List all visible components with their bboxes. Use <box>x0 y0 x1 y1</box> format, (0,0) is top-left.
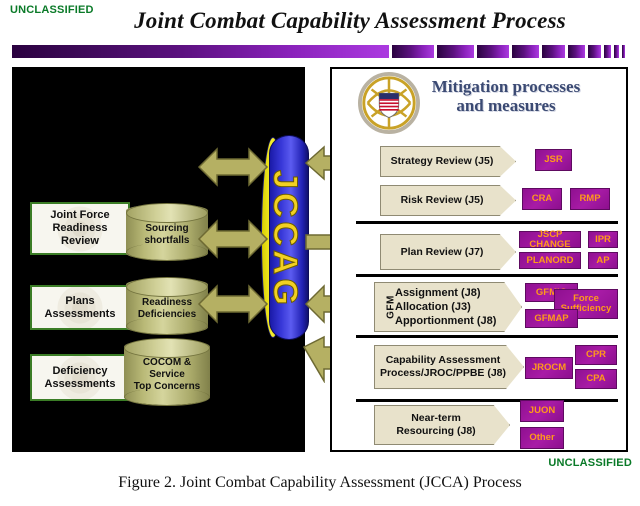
measure-tag-label: CPR <box>586 350 606 360</box>
measure-tag-label: Other <box>529 433 554 443</box>
measure-tag-other[interactable]: Other <box>520 427 564 449</box>
process-global-force-management[interactable]: GFM Assignment (J8) Allocation (J3) Appo… <box>374 282 522 332</box>
arrow-products-to-hub-3 <box>197 280 269 328</box>
data-store-readiness-deficiencies[interactable]: ReadinessDeficiencies <box>126 278 208 334</box>
product-box-label: PlansAssessments <box>45 295 116 321</box>
right-panel-title: Mitigation processesand measures <box>390 77 622 115</box>
purple-bar-segment <box>622 45 625 58</box>
process-risk-review[interactable]: Risk Review (J5) <box>380 185 516 216</box>
arrow-products-to-hub-1 <box>197 143 269 191</box>
measure-tag-label: PLANORD <box>527 256 574 266</box>
classification-marking-bottom: UNCLASSIFIED <box>548 457 632 469</box>
measure-tag-label: GFMAP <box>534 314 568 324</box>
purple-bar-segment <box>568 45 585 58</box>
process-strategy-review[interactable]: Strategy Review (J5) <box>380 146 516 177</box>
row-divider <box>356 274 618 277</box>
decorative-purple-bar <box>12 45 628 58</box>
product-box-joint-force-readiness-review[interactable]: Joint ForceReadinessReview <box>30 202 130 255</box>
measure-tag-jsr[interactable]: JSR <box>535 149 572 171</box>
gfm-process-lines: Assignment (J8) Allocation (J3) Apportio… <box>395 283 507 331</box>
purple-bar-segment <box>542 45 565 58</box>
purple-bar-segment <box>512 45 540 58</box>
measure-tag-label: CRA <box>532 194 553 204</box>
measure-tag-juon[interactable]: JUON <box>520 400 564 422</box>
arrow-products-to-hub-2 <box>197 215 269 263</box>
process-label: Strategy Review (J5) <box>391 155 506 168</box>
measure-tag-label: AP <box>596 256 609 266</box>
purple-bar-segment <box>437 45 474 58</box>
gfm-line-allocation: Allocation (J3) <box>395 300 507 314</box>
measure-tag-rmp[interactable]: RMP <box>570 188 610 210</box>
data-store-label: ReadinessDeficiencies <box>138 291 196 321</box>
purple-bar-segment <box>588 45 600 58</box>
process-near-term-resourcing[interactable]: Near-termResourcing (J8) <box>374 405 510 445</box>
figure-caption: Figure 2. Joint Combat Capability Assess… <box>0 474 640 492</box>
measure-tag-label: JSCP CHANGE <box>520 230 580 250</box>
purple-bar-segment <box>604 45 612 58</box>
measure-tag-ap[interactable]: AP <box>588 252 618 269</box>
measure-tag-label: CPA <box>586 374 605 384</box>
measure-tag-label: RMP <box>579 194 600 204</box>
measure-tag-label: JUON <box>529 406 555 416</box>
measure-tag-planord[interactable]: PLANORD <box>519 252 581 269</box>
measure-tag-ipr[interactable]: IPR <box>588 231 618 248</box>
data-store-cocom-service-top-concerns[interactable]: COCOM &ServiceTop Concerns <box>124 339 210 405</box>
measure-tag-jscp-change[interactable]: JSCP CHANGE <box>519 231 581 248</box>
row-divider <box>356 221 618 224</box>
mitigation-panel: Mitigation processesand measures Strateg… <box>330 67 628 452</box>
process-label: Risk Review (J5) <box>401 194 496 207</box>
measure-tag-gfmap[interactable]: GFMAP <box>525 309 578 328</box>
purple-bar-segment <box>477 45 508 58</box>
process-label: Near-termResourcing (J8) <box>396 412 487 438</box>
measure-tag-cpr[interactable]: CPR <box>575 345 617 365</box>
process-plan-review[interactable]: Plan Review (J7) <box>380 234 516 270</box>
product-box-label: Joint ForceReadinessReview <box>50 209 109 248</box>
measure-tag-label: JSR <box>544 155 562 165</box>
row-divider <box>356 399 618 402</box>
measure-tag-label: JROCM <box>532 363 566 373</box>
measure-tag-cpa[interactable]: CPA <box>575 369 617 389</box>
gfm-line-assignment: Assignment (J8) <box>395 286 507 300</box>
product-box-plans-assessments[interactable]: PlansAssessments <box>30 285 130 330</box>
data-store-label: COCOM &ServiceTop Concerns <box>134 351 200 393</box>
gfm-line-apportionment: Apportionment (J8) <box>395 314 507 328</box>
purple-bar-segment <box>12 45 389 58</box>
process-label: Capability AssessmentProcess/JROC/PPBE (… <box>380 354 518 380</box>
figure-root: UNCLASSIFIED UNCLASSIFIED Joint Combat C… <box>0 0 640 506</box>
process-label: Plan Review (J7) <box>401 246 496 259</box>
process-capability-assessment[interactable]: Capability AssessmentProcess/JROC/PPBE (… <box>374 345 524 389</box>
measure-tag-label: IPR <box>595 235 611 245</box>
page-title: Joint Combat Capability Assessment Proce… <box>0 8 640 34</box>
product-box-label: DeficiencyAssessments <box>45 365 116 391</box>
purple-bar-segment <box>392 45 434 58</box>
measure-tag-jrocm[interactable]: JROCM <box>525 357 573 379</box>
row-divider <box>356 335 618 338</box>
jccag-hub[interactable]: JCCAG <box>265 135 309 340</box>
product-box-deficiency-assessments[interactable]: DeficiencyAssessments <box>30 354 130 401</box>
data-store-label: Sourcingshortfalls <box>144 217 189 247</box>
purple-bar-segment <box>614 45 619 58</box>
data-store-sourcing-shortfalls[interactable]: Sourcingshortfalls <box>126 204 208 260</box>
hub-label: JCCAG <box>265 135 305 340</box>
measure-tag-cra[interactable]: CRA <box>522 188 562 210</box>
